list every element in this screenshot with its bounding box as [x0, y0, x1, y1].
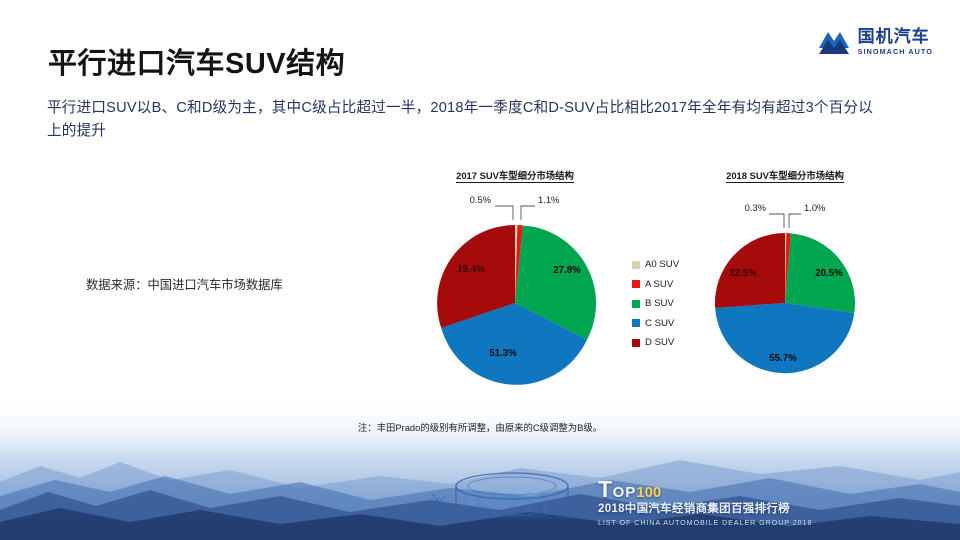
legend-swatch-b-suv: [632, 300, 640, 308]
top100-wordmark: TOP100: [598, 479, 661, 502]
pie-2018-label-d: 22.5%: [729, 268, 757, 279]
pie-2018-label-c: 55.7%: [769, 353, 797, 364]
top100-t: T: [598, 476, 613, 502]
page-subtitle: 平行进口SUV以B、C和D级为主，其中C级占比超过一半，2018年一季度C和D-…: [47, 97, 877, 143]
pie-2018-label-a: 1.0%: [804, 202, 825, 213]
legend-swatch-a-suv: [632, 280, 640, 288]
pie-2017-label-a: 1.1%: [538, 194, 559, 205]
legend-swatch-a0-suv: [632, 261, 640, 269]
brand-logo: 国机汽车 SINOMACH AUTO: [817, 28, 933, 56]
legend-item-a0-suv[interactable]: A0 SUV: [632, 259, 679, 270]
legend-label-a-suv: A SUV: [645, 279, 673, 290]
pie-2017-label-b: 27.8%: [553, 265, 581, 276]
stadium-icon: [430, 468, 590, 526]
legend-swatch-c-suv: [632, 319, 640, 327]
pie-2017-canvas: 0.5% 1.1% 27.8% 51.3% 19.4%: [395, 168, 635, 398]
mountain-logo-icon: [817, 28, 851, 56]
pie-2018-label-a0: 0.3%: [745, 202, 766, 213]
pie-chart-2018: 2018 SUV车型细分市场结构 0.3%: [665, 168, 905, 398]
data-source-note: 数据来源：中国进口汽车市场数据库: [86, 275, 283, 293]
legend-item-d-suv[interactable]: D SUV: [632, 337, 679, 348]
legend-swatch-d-suv: [632, 339, 640, 347]
top100-op: OP: [613, 484, 637, 501]
banner-english-title: LIST OF CHINA AUTOMOBILE DEALER GROUP 20…: [598, 518, 812, 527]
legend-label-d-suv: D SUV: [645, 337, 674, 348]
page-title: 平行进口汽车SUV结构: [48, 40, 345, 82]
legend-item-b-suv[interactable]: B SUV: [632, 298, 679, 309]
legend-label-a0-suv: A0 SUV: [645, 259, 679, 270]
legend-label-b-suv: B SUV: [645, 298, 674, 309]
logo-english-name: SINOMACH AUTO: [858, 48, 933, 55]
legend-item-c-suv[interactable]: C SUV: [632, 318, 679, 329]
top100-banner: TOP100 2018中国汽车经销商集团百强排行榜 LIST OF CHINA …: [0, 462, 960, 540]
chart-footnote: 注：丰田Prado的级别有所调整，由原来的C级调整为B级。: [0, 420, 960, 434]
pie-2018-canvas: 0.3% 1.0% 20.5% 55.7% 22.5%: [665, 168, 905, 398]
logo-chinese-name: 国机汽车: [858, 28, 933, 45]
pie-2017-label-c: 51.3%: [489, 348, 517, 359]
pie-2017-label-d: 19.4%: [457, 264, 485, 275]
chart-legend: A0 SUV A SUV B SUV C SUV D SUV: [632, 259, 679, 348]
pie-2018-label-b: 20.5%: [815, 268, 843, 279]
banner-chinese-title: 2018中国汽车经销商集团百强排行榜: [598, 500, 790, 516]
pie-2017-label-a0: 0.5%: [470, 194, 491, 205]
slide-root: TOP100 2018中国汽车经销商集团百强排行榜 LIST OF CHINA …: [0, 0, 960, 540]
pie-chart-2017: 2017 SUV车型细分市场结构: [395, 168, 635, 398]
top100-number: 100: [636, 484, 661, 501]
legend-label-c-suv: C SUV: [645, 318, 674, 329]
mountain-photo-band: TOP100 2018中国汽车经销商集团百强排行榜 LIST OF CHINA …: [0, 388, 960, 540]
legend-item-a-suv[interactable]: A SUV: [632, 279, 679, 290]
